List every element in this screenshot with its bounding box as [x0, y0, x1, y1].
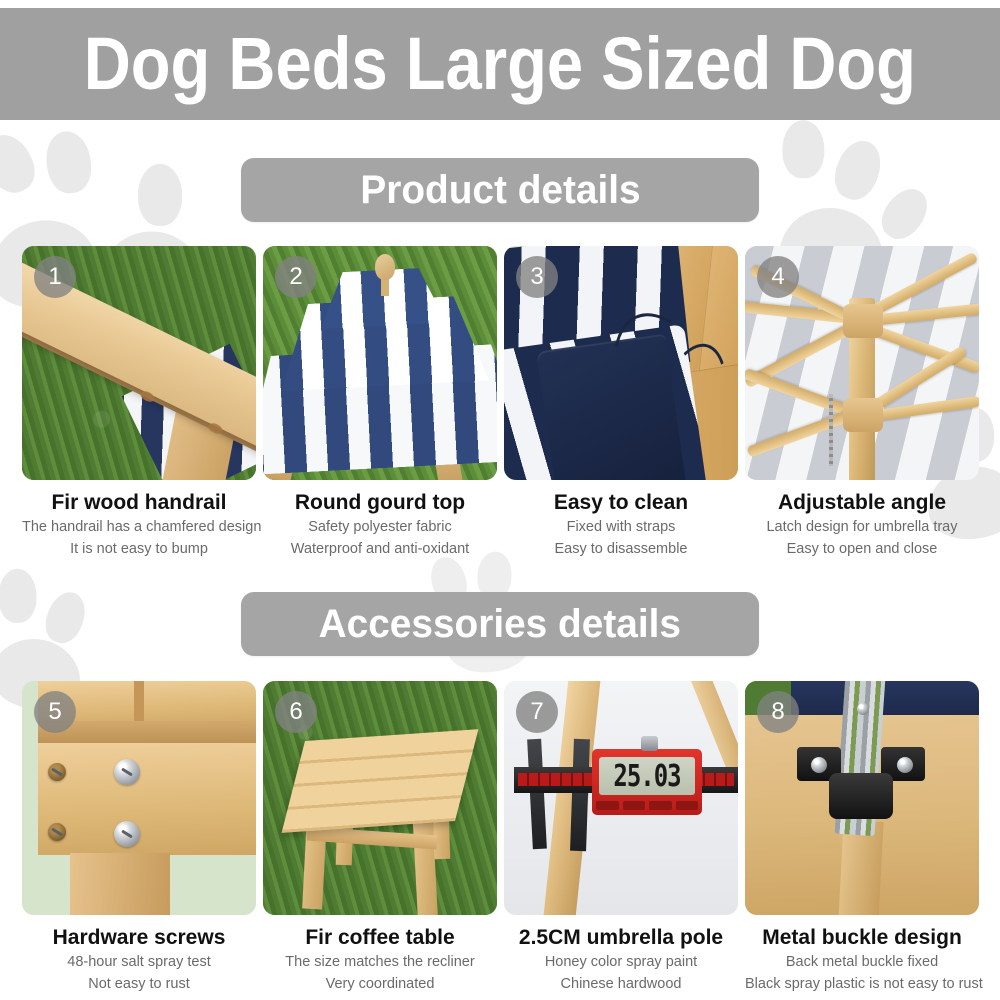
caption-title: Round gourd top [263, 491, 497, 515]
badge-number: 4 [757, 256, 799, 298]
badge-number: 7 [516, 691, 558, 733]
detail-card-metal-buckle: 8 Metal buckle design Back metal buckle … [745, 681, 979, 994]
page-title-banner: Dog Beds Large Sized Dog [0, 8, 1000, 120]
accessories-details-grid: 5 Hardware screws 48-hour salt spray tes… [22, 681, 979, 994]
caption-subtitle-1: 48-hour salt spray test [22, 952, 256, 972]
latch-chain [829, 394, 833, 466]
product-detail-page: Dog Beds Large Sized Dog Product details… [0, 0, 1000, 1000]
photo-fir-wood-handrail: 1 [22, 246, 256, 480]
caption-subtitle-1: The handrail has a chamfered design [22, 517, 256, 537]
caption-title: 2.5CM umbrella pole [504, 926, 738, 950]
wood-screw [48, 823, 66, 841]
table-top-slats [282, 729, 479, 833]
wood-screw [48, 763, 66, 781]
lower-hub-latch [843, 398, 883, 432]
section-title-accessories-details: Accessories details [319, 604, 681, 644]
chrome-screw [114, 759, 140, 785]
caption-fir-wood-handrail: Fir wood handrail The handrail has a cha… [22, 480, 256, 559]
caption-title: Fir wood handrail [22, 491, 256, 515]
photo-digital-caliper: 25.03 7 [504, 681, 738, 915]
product-details-grid: 1 Fir wood handrail The handrail has a c… [22, 246, 979, 559]
caliper-thumb-screw [641, 736, 658, 751]
caption-subtitle-1: Safety polyester fabric [263, 517, 497, 537]
buckle-screw [811, 757, 827, 773]
side-rail [38, 743, 256, 855]
photo-hardware-screws: 5 [22, 681, 256, 915]
caliper-button [623, 801, 646, 810]
caption-adjustable-angle: Adjustable angle Latch design for umbrel… [745, 480, 979, 559]
caption-easy-to-clean: Easy to clean Fixed with straps Easy to … [504, 480, 738, 559]
buckle-screw [897, 757, 913, 773]
caliper-button [596, 801, 619, 810]
photo-metal-buckle: 8 [745, 681, 979, 915]
badge-number: 2 [275, 256, 317, 298]
caption-title: Hardware screws [22, 926, 256, 950]
caption-title: Fir coffee table [263, 926, 497, 950]
photo-fir-coffee-table: 6 [263, 681, 497, 915]
caption-subtitle-2: Waterproof and anti-oxidant [263, 539, 497, 559]
caliper-button-row [596, 801, 698, 810]
buckle-clamp [829, 773, 893, 819]
caption-subtitle-2: Not easy to rust [22, 974, 256, 994]
caption-hardware-screws: Hardware screws 48-hour salt spray test … [22, 915, 256, 994]
caption-metal-buckle: Metal buckle design Back metal buckle fi… [745, 915, 979, 994]
detail-card-fir-wood-handrail: 1 Fir wood handrail The handrail has a c… [22, 246, 256, 559]
detail-card-easy-to-clean: 3 Easy to clean Fixed with straps Easy t… [504, 246, 738, 559]
section-header-accessories-details: Accessories details [241, 592, 759, 656]
caption-subtitle-1: Fixed with straps [504, 517, 738, 537]
detail-card-round-gourd-top: 2 Round gourd top Safety polyester fabri… [263, 246, 497, 559]
page-title: Dog Beds Large Sized Dog [84, 27, 916, 101]
caption-subtitle-2: Very coordinated [263, 974, 497, 994]
badge-number: 1 [34, 256, 76, 298]
chrome-screw [114, 821, 140, 847]
caption-subtitle-1: Latch design for umbrella tray [745, 517, 979, 537]
caption-umbrella-pole: 2.5CM umbrella pole Honey color spray pa… [504, 915, 738, 994]
caliper-lcd-display: 25.03 [599, 757, 695, 795]
caliper-button [649, 801, 672, 810]
caption-title: Easy to clean [504, 491, 738, 515]
photo-round-gourd-top: 2 [263, 246, 497, 480]
detail-card-fir-coffee-table: 6 Fir coffee table The size matches the … [263, 681, 497, 994]
caption-subtitle-2: Easy to disassemble [504, 539, 738, 559]
caption-round-gourd-top: Round gourd top Safety polyester fabric … [263, 480, 497, 559]
caption-title: Metal buckle design [745, 926, 979, 950]
caption-title: Adjustable angle [745, 491, 979, 515]
section-header-product-details: Product details [241, 158, 759, 222]
badge-number: 3 [516, 256, 558, 298]
caption-subtitle-2: It is not easy to bump [22, 539, 256, 559]
pole-rivet [857, 703, 869, 715]
upper-hub-latch [843, 304, 883, 338]
caption-subtitle-2: Black spray plastic is not easy to rust [745, 974, 979, 994]
detail-card-hardware-screws: 5 Hardware screws 48-hour salt spray tes… [22, 681, 256, 994]
table-leg [70, 853, 170, 915]
caption-subtitle-2: Chinese hardwood [504, 974, 738, 994]
badge-number: 5 [34, 691, 76, 733]
badge-number: 6 [275, 691, 317, 733]
photo-cushion-straps: 3 [504, 246, 738, 480]
caption-subtitle-2: Easy to open and close [745, 539, 979, 559]
caption-subtitle-1: Honey color spray paint [504, 952, 738, 972]
detail-card-adjustable-angle: 4 Adjustable angle Latch design for umbr… [745, 246, 979, 559]
badge-number: 8 [757, 691, 799, 733]
detail-card-umbrella-pole: 25.03 7 2.5CM umbrella pole Honey color … [504, 681, 738, 994]
caliper-reading: 25.03 [613, 759, 680, 794]
caption-fir-coffee-table: Fir coffee table The size matches the re… [263, 915, 497, 994]
photo-umbrella-ribs: 4 [745, 246, 979, 480]
gourd-finial [375, 254, 395, 280]
section-title-product-details: Product details [360, 170, 640, 210]
caliper-button [676, 801, 699, 810]
caption-subtitle-1: The size matches the recliner [263, 952, 497, 972]
caption-subtitle-1: Back metal buckle fixed [745, 952, 979, 972]
